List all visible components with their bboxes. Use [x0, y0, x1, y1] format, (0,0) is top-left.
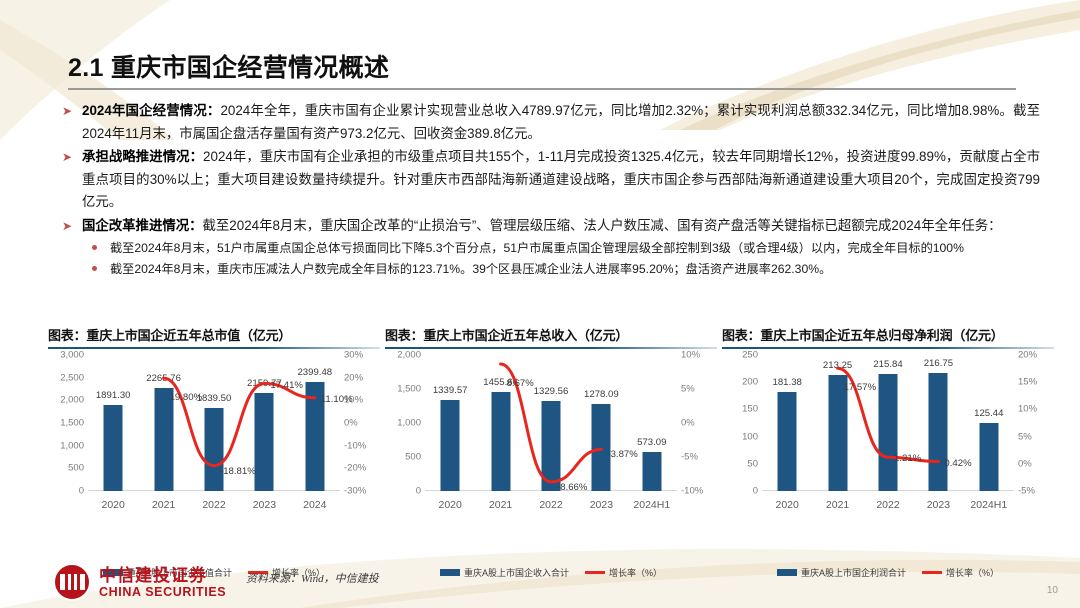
bullet-level1: ➤ 国企改革推进情况：截至2024年8月末，重庆国企改革的“止损治亏”、管理层级…: [60, 215, 1040, 238]
x-axis-tick-label: 2024: [303, 499, 326, 511]
x-axis-tick-label: 2023: [590, 499, 613, 511]
x-axis-tick-label: 2023: [253, 499, 276, 511]
y-axis-tick-label: 250: [742, 350, 758, 361]
x-axis-tick-label: 2023: [927, 499, 950, 511]
brand-logo: 中信建投证券 CHINA SECURITIES: [52, 562, 226, 602]
y2-axis-tick-label: -5%: [1018, 486, 1035, 497]
growth-rate-label: 0.42%: [944, 458, 971, 469]
growth-rate-label: -18.81%: [220, 466, 256, 477]
x-axis-tick-label: 2020: [439, 499, 462, 511]
x-axis-tick-label: 2022: [202, 499, 225, 511]
y-axis-right: -30%-20%-10%0%10%20%30%: [344, 355, 380, 513]
y2-axis-tick-label: -30%: [344, 486, 366, 497]
arrow-bullet-icon: ➤: [62, 149, 72, 165]
growth-rate-label: 1.21%: [894, 453, 921, 464]
y-axis-tick-label: 500: [405, 452, 421, 463]
y2-axis-tick-label: 20%: [344, 372, 363, 383]
chart-title: 图表：重庆上市国企近五年总归母净利润（亿元）: [722, 325, 1054, 344]
bullet-level1: ➤ 承担战略推进情况：2024年，重庆市国有企业承担的市级重点项目共155个，1…: [60, 146, 1040, 214]
china-securities-logo-icon: [52, 562, 92, 602]
y2-axis-tick-label: 5%: [681, 384, 695, 395]
bullet-lead: 承担战略推进情况：: [82, 149, 203, 164]
x-axis-tick-label: 2021: [152, 499, 175, 511]
x-axis-tick-label: 2020: [102, 499, 125, 511]
chart-plot: 05001,0001,5002,000-10%-5%0%5%10%2020202…: [385, 355, 717, 513]
y-axis-tick-label: 150: [742, 404, 758, 415]
y2-axis-tick-label: 5%: [1018, 431, 1032, 442]
y-axis-tick-label: 1,500: [397, 384, 421, 395]
bullet-level2: 截至2024年8月末，51户市属重点国企总体亏损面同比下降5.3个百分点，51户…: [60, 238, 1040, 258]
y-axis-tick-label: 1,000: [397, 418, 421, 429]
y-axis-tick-label: 3,000: [60, 350, 84, 361]
page-number: 10: [1047, 585, 1058, 596]
x-axis-tick-label: 2024H1: [970, 499, 1007, 511]
y2-axis-tick-label: -10%: [681, 486, 703, 497]
logo-text-cn: 中信建投证券: [99, 566, 226, 585]
x-axis-tick-label: 2024H1: [633, 499, 670, 511]
y2-axis-tick-label: 15%: [1018, 377, 1037, 388]
growth-rate-line: [425, 355, 677, 491]
y2-axis-tick-label: -20%: [344, 463, 366, 474]
chart-panel-market-value: 图表：重庆上市国企近五年总市值（亿元） 05001,0001,5002,0002…: [48, 325, 380, 555]
arrow-bullet-icon: ➤: [62, 218, 72, 234]
x-axis-tick-label: 2020: [776, 499, 799, 511]
y2-axis-tick-label: -10%: [344, 440, 366, 451]
y2-axis-tick-label: 0%: [344, 418, 358, 429]
growth-rate-label: 19.80%: [170, 392, 203, 403]
growth-rate-line: [88, 355, 340, 491]
arrow-bullet-icon: ➤: [62, 103, 72, 119]
chart-title-divider: [48, 347, 380, 349]
y2-axis-tick-label: 20%: [1018, 350, 1037, 361]
page-title: 2.1 重庆市国企经营情况概述: [68, 48, 389, 84]
y-axis-tick-label: 2,000: [397, 350, 421, 361]
chart-title: 图表：重庆上市国企近五年总市值（亿元）: [48, 325, 380, 344]
chart-title-divider: [385, 347, 717, 349]
bullet-lead: 2024年国企经营情况：: [82, 103, 220, 118]
y-axis-tick-label: 0: [79, 486, 84, 497]
growth-rate-label: 17.57%: [844, 382, 877, 393]
y-axis-tick-label: 0: [416, 486, 421, 497]
y2-axis-tick-label: 0%: [1018, 458, 1032, 469]
y-axis-tick-label: 200: [742, 377, 758, 388]
y-axis-left: 050100150200250: [722, 355, 758, 513]
y-axis-tick-label: 50: [747, 458, 758, 469]
chart-title-divider: [722, 347, 1054, 349]
bullet-text: 截至2024年8月末，重庆国企改革的“止损治亏”、管理层级压缩、法人户数压减、国…: [203, 218, 1002, 233]
y2-axis-tick-label: 30%: [344, 350, 363, 361]
y2-axis-tick-label: 0%: [681, 418, 695, 429]
growth-rate-line: [762, 355, 1014, 491]
growth-rate-label: -3.87%: [607, 449, 637, 460]
growth-rate-label: -8.66%: [557, 482, 587, 493]
charts-row: 图表：重庆上市国企近五年总市值（亿元） 05001,0001,5002,0002…: [48, 325, 1056, 555]
y-axis-tick-label: 500: [68, 463, 84, 474]
x-axis-tick-label: 2022: [539, 499, 562, 511]
plot-area: 181.38213.25215.84216.75125.4417.57%1.21…: [762, 355, 1014, 491]
chart-plot: 050100150200250-5%0%5%10%15%20%202020212…: [722, 355, 1054, 513]
bullet-level1: ➤ 2024年国企经营情况：2024年全年，重庆市国有企业累计实现营业总收入47…: [60, 100, 1040, 145]
dot-bullet-icon: [92, 245, 97, 250]
y-axis-left: 05001,0001,5002,000: [385, 355, 421, 513]
chart-title: 图表：重庆上市国企近五年总收入（亿元）: [385, 325, 717, 344]
y-axis-tick-label: 2,000: [60, 395, 84, 406]
x-axis-tick-label: 2021: [826, 499, 849, 511]
logo-text-en: CHINA SECURITIES: [99, 585, 226, 599]
y-axis-tick-label: 100: [742, 431, 758, 442]
y-axis-tick-label: 2,500: [60, 372, 84, 383]
y-axis-tick-label: 0: [753, 486, 758, 497]
body-content: ➤ 2024年国企经营情况：2024年全年，重庆市国有企业累计实现营业总收入47…: [60, 100, 1040, 279]
dot-bullet-icon: [92, 266, 97, 271]
chart-plot: 05001,0001,5002,0002,5003,000-30%-20%-10…: [48, 355, 380, 513]
y-axis-left: 05001,0001,5002,0002,5003,000: [48, 355, 84, 513]
y2-axis-tick-label: -5%: [681, 452, 698, 463]
growth-rate-label: 8.67%: [507, 378, 534, 389]
y-axis-tick-label: 1,500: [60, 418, 84, 429]
bullet-level2: 截至2024年8月末，重庆市压减法人户数完成全年目标的123.71%。39个区县…: [60, 259, 1040, 279]
x-axis-tick-label: 2021: [489, 499, 512, 511]
bullet-text: 截至2024年8月末，重庆市压减法人户数完成全年目标的123.71%。39个区县…: [110, 262, 831, 276]
y-axis-right: -5%0%5%10%15%20%: [1018, 355, 1054, 513]
bullet-lead: 国企改革推进情况：: [82, 218, 203, 233]
x-axis-tick-label: 2022: [876, 499, 899, 511]
y2-axis-tick-label: 10%: [1018, 404, 1037, 415]
plot-area: 1339.571455.661329.561278.09573.098.67%-…: [425, 355, 677, 491]
y2-axis-tick-label: 10%: [681, 350, 700, 361]
slide-footer: 中信建投证券 CHINA SECURITIES 资料来源：Wind，中信建投 1…: [0, 550, 1080, 608]
growth-rate-label: 17.41%: [270, 380, 303, 391]
page-title-text: 2.1 重庆市国企经营情况概述: [68, 48, 389, 84]
chart-panel-revenue: 图表：重庆上市国企近五年总收入（亿元） 05001,0001,5002,000-…: [385, 325, 717, 555]
chart-panel-net-profit: 图表：重庆上市国企近五年总归母净利润（亿元） 050100150200250-5…: [722, 325, 1054, 555]
bullet-text: 2024年，重庆市国有企业承担的市级重点项目共155个，1-11月完成投资132…: [82, 149, 1040, 209]
y-axis-right: -10%-5%0%5%10%: [681, 355, 717, 513]
slide-root: 2.1 重庆市国企经营情况概述 ➤ 2024年国企经营情况：2024年全年，重庆…: [0, 0, 1080, 608]
source-note: 资料来源：Wind，中信建投: [246, 570, 379, 586]
y-axis-tick-label: 1,000: [60, 440, 84, 451]
bullet-text: 截至2024年8月末，51户市属重点国企总体亏损面同比下降5.3个百分点，51户…: [110, 241, 964, 255]
plot-area: 1891.302265.761839.502159.772399.4819.80…: [88, 355, 340, 491]
growth-rate-label: 11.10%: [321, 394, 353, 405]
bullet-text: 2024年全年，重庆市国有企业累计实现营业总收入4789.97亿元，同比增加2.…: [82, 103, 1040, 141]
title-divider: [68, 88, 1016, 90]
